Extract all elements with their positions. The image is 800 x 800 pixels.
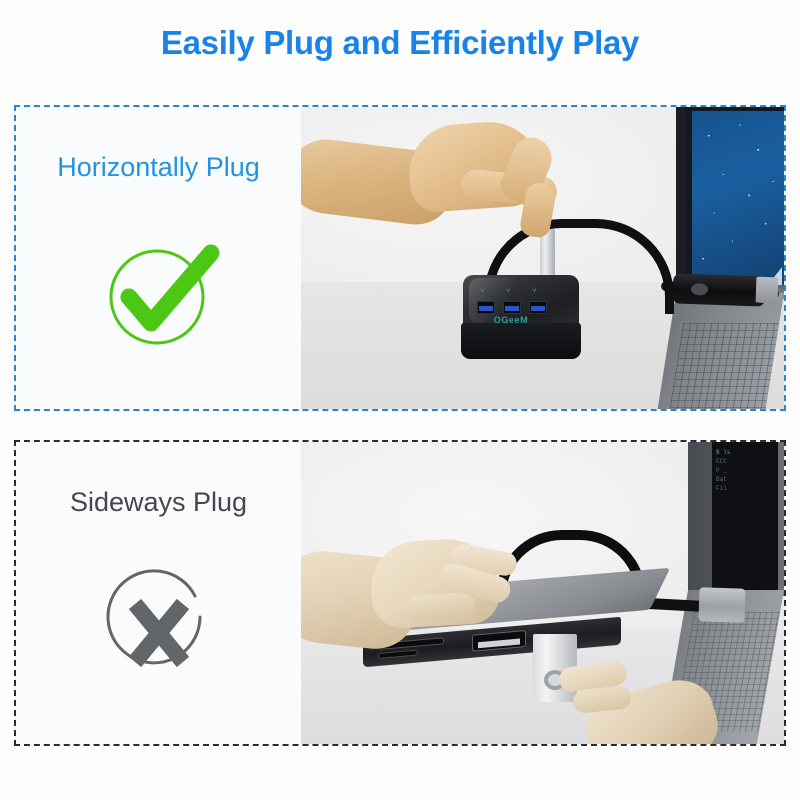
usb-port-3: [529, 301, 547, 314]
laptop-1-base: [656, 293, 784, 409]
usb-a-connector-icon: [673, 273, 766, 306]
x-circle-icon: [99, 570, 219, 690]
photo-horizontal-plug: ⑂ ⑂ ⑂ QGeeM: [301, 107, 784, 409]
page-title: Easily Plug and Efficiently Play: [0, 24, 800, 62]
laptop-1-keyboard: [668, 323, 779, 409]
panel-sideways-label: Sideways Plug: [16, 487, 301, 518]
usb-a-connector-tip: [756, 277, 779, 304]
wooden-hand-2a-finger-3: [404, 592, 476, 623]
usb-port-1: [477, 301, 495, 314]
usb-symbol-icon-2: ⑂: [506, 287, 511, 295]
photo-sideways-plug: $ ls CCC P _ Bat Fil: [301, 442, 784, 744]
product-infographic: Easily Plug and Efficiently Play Horizon…: [0, 0, 800, 800]
usb-hub-black-top: ⑂ ⑂ ⑂ QGeeM: [463, 275, 579, 327]
microsd-card-slot: [379, 651, 417, 658]
laptop-2-screen: $ ls CCC P _ Bat Fil: [712, 442, 778, 592]
laptop-2-screen-line-3: P _: [716, 466, 774, 475]
laptop-2-screen-line-1: $ ls: [716, 448, 774, 457]
laptop-1: [676, 107, 784, 409]
usb-port-2: [503, 301, 521, 314]
panel-horizontal-label-column: Horizontally Plug: [16, 107, 301, 409]
usb-symbol-icon-3: ⑂: [532, 287, 537, 295]
usb-c-connector-icon: [698, 587, 745, 623]
usb-a-port: [473, 631, 525, 651]
panel-sideways-plug: Sideways Plug $ ls CCC P _: [14, 440, 786, 746]
laptop-1-screen: [676, 107, 784, 295]
panel-horizontal-plug: Horizontally Plug: [14, 105, 786, 411]
check-circle-icon: [99, 235, 219, 355]
laptop-2-screen-line-2: CCC: [716, 457, 774, 466]
panel-horizontal-label: Horizontally Plug: [16, 152, 301, 183]
usb-symbol-icon-1: ⑂: [480, 287, 485, 295]
usb-hub-black: ⑂ ⑂ ⑂ QGeeM: [461, 275, 581, 359]
laptop-2-screen-text: $ ls CCC P _ Bat Fil: [716, 448, 774, 493]
panel-sideways-label-column: Sideways Plug: [16, 442, 301, 744]
usb-hub-black-base: [461, 323, 581, 359]
laptop-2-screen-line-5: Fil: [716, 484, 774, 493]
laptop-2-screen-line-4: Bat: [716, 475, 774, 484]
laptop-2-lid: $ ls CCC P _ Bat Fil: [688, 442, 784, 596]
laptop-1-wallpaper: [692, 111, 784, 287]
